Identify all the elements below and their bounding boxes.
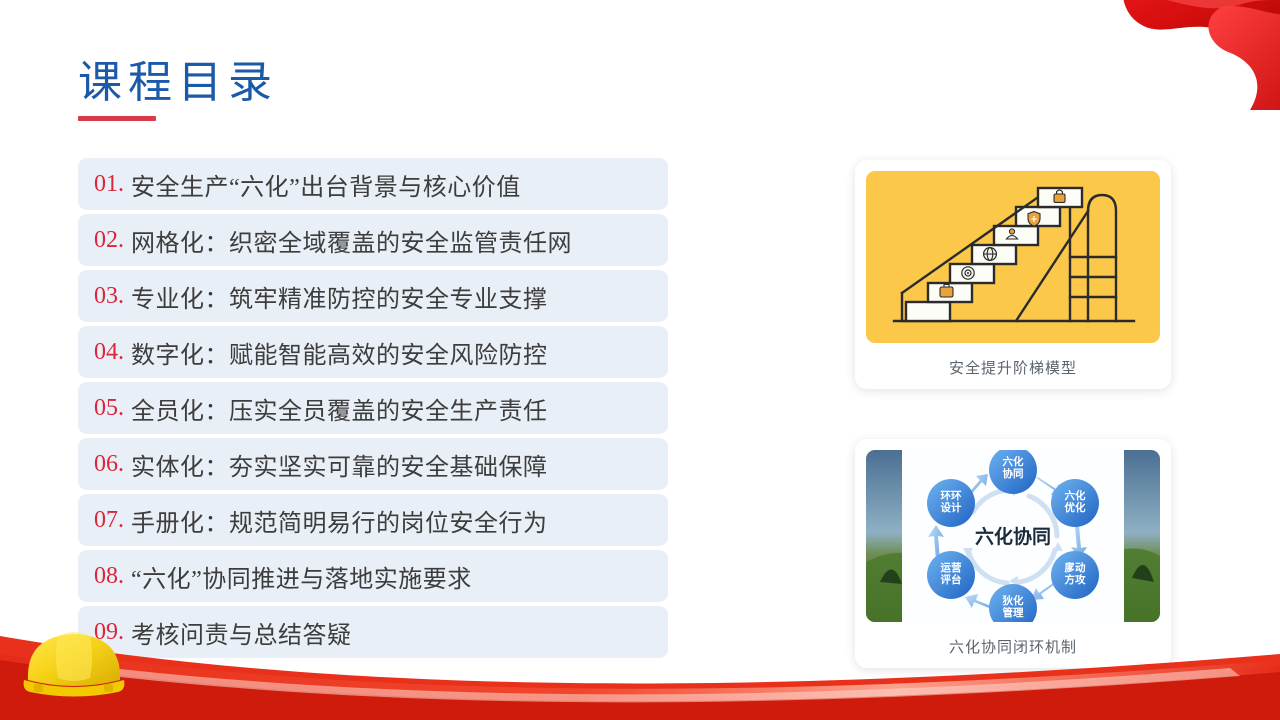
cycle-center-label: 六化协同 — [975, 525, 1051, 548]
toc-number: 05. — [94, 395, 124, 422]
staircase-illustration — [866, 171, 1160, 343]
svg-text:管理: 管理 — [1003, 606, 1024, 619]
toc-label: 手册化：规范简明易行的岗位安全行为 — [131, 503, 548, 538]
toc-number: 01. — [94, 171, 124, 198]
globe-icon — [984, 248, 997, 261]
page-title-block: 课程目录 — [78, 58, 278, 121]
toc-label: 考核问责与总结答疑 — [131, 615, 352, 650]
card-safety-ladder[interactable]: 安全提升阶梯模型 — [855, 160, 1171, 389]
toc-item-07[interactable]: 07. 手册化：规范简明易行的岗位安全行为 — [78, 494, 668, 546]
cycle-diagram: 六化协同 六化优化 扅动方攻 狄化管理 运营评台 环环设计 六化协同 — [866, 450, 1160, 622]
toc-label: “六化”协同推进与落地实施要求 — [131, 559, 472, 594]
toc-label: 实体化：夯实坚实可靠的安全基础保障 — [131, 447, 548, 482]
toc-label: 安全生产“六化”出台背景与核心价值 — [131, 167, 521, 202]
toc-item-03[interactable]: 03. 专业化：筑牢精准防控的安全专业支撑 — [78, 270, 668, 322]
svg-text:设计: 设计 — [941, 501, 962, 514]
svg-text:六化: 六化 — [1065, 489, 1087, 502]
toc-number: 07. — [94, 507, 124, 534]
card-cycle-mechanism[interactable]: 六化协同 六化优化 扅动方攻 狄化管理 运营评台 环环设计 六化协同 — [855, 439, 1171, 668]
card-spacer — [855, 389, 1171, 439]
toc-item-02[interactable]: 02. 网格化：织密全域覆盖的安全监管责任网 — [78, 214, 668, 266]
toc-number: 09. — [94, 619, 124, 646]
toc-label: 数字化：赋能智能高效的安全风险防控 — [131, 335, 548, 370]
svg-text:评台: 评台 — [941, 573, 962, 586]
toc-label: 网格化：织密全域覆盖的安全监管责任网 — [131, 223, 572, 258]
figure-cards: 安全提升阶梯模型 — [855, 160, 1171, 668]
svg-text:环环: 环环 — [941, 490, 962, 502]
toc-number: 02. — [94, 227, 124, 254]
svg-text:狄化: 狄化 — [1002, 594, 1024, 607]
toc-list: 01. 安全生产“六化”出台背景与核心价值 02. 网格化：织密全域覆盖的安全监… — [78, 158, 668, 658]
toc-label: 全员化：压实全员覆盖的安全生产责任 — [131, 391, 548, 426]
toc-item-01[interactable]: 01. 安全生产“六化”出台背景与核心价值 — [78, 158, 668, 210]
svg-text:六化: 六化 — [1003, 455, 1024, 468]
toc-item-09[interactable]: 09. 考核问责与总结答疑 — [78, 606, 668, 658]
shield-icon — [1028, 212, 1040, 227]
target-icon — [962, 267, 974, 279]
svg-text:协同: 协同 — [1003, 467, 1024, 480]
toc-number: 04. — [94, 339, 124, 366]
slide-root: 课程目录 01. 安全生产“六化”出台背景与核心价值 02. 网格化：织密全域覆… — [0, 0, 1280, 720]
toc-label: 专业化：筑牢精准防控的安全专业支撑 — [131, 279, 548, 314]
toc-item-08[interactable]: 08. “六化”协同推进与落地实施要求 — [78, 550, 668, 602]
svg-text:运营: 运营 — [941, 561, 962, 574]
svg-text:扅动: 扅动 — [1065, 561, 1087, 574]
toc-number: 06. — [94, 451, 124, 478]
toc-item-05[interactable]: 05. 全员化：压实全员覆盖的安全生产责任 — [78, 382, 668, 434]
red-ribbon-decoration — [1100, 0, 1280, 110]
title-underline — [78, 116, 156, 121]
svg-text:方攻: 方攻 — [1065, 573, 1087, 586]
toc-number: 08. — [94, 563, 124, 590]
card-caption: 六化协同闭环机制 — [866, 636, 1160, 657]
page-title: 课程目录 — [78, 58, 278, 107]
toc-item-04[interactable]: 04. 数字化：赋能智能高效的安全风险防控 — [78, 326, 668, 378]
svg-text:优化: 优化 — [1065, 501, 1087, 514]
card-caption: 安全提升阶梯模型 — [866, 357, 1160, 378]
toc-number: 03. — [94, 283, 124, 310]
toc-item-06[interactable]: 06. 实体化：夯实坚实可靠的安全基础保障 — [78, 438, 668, 490]
